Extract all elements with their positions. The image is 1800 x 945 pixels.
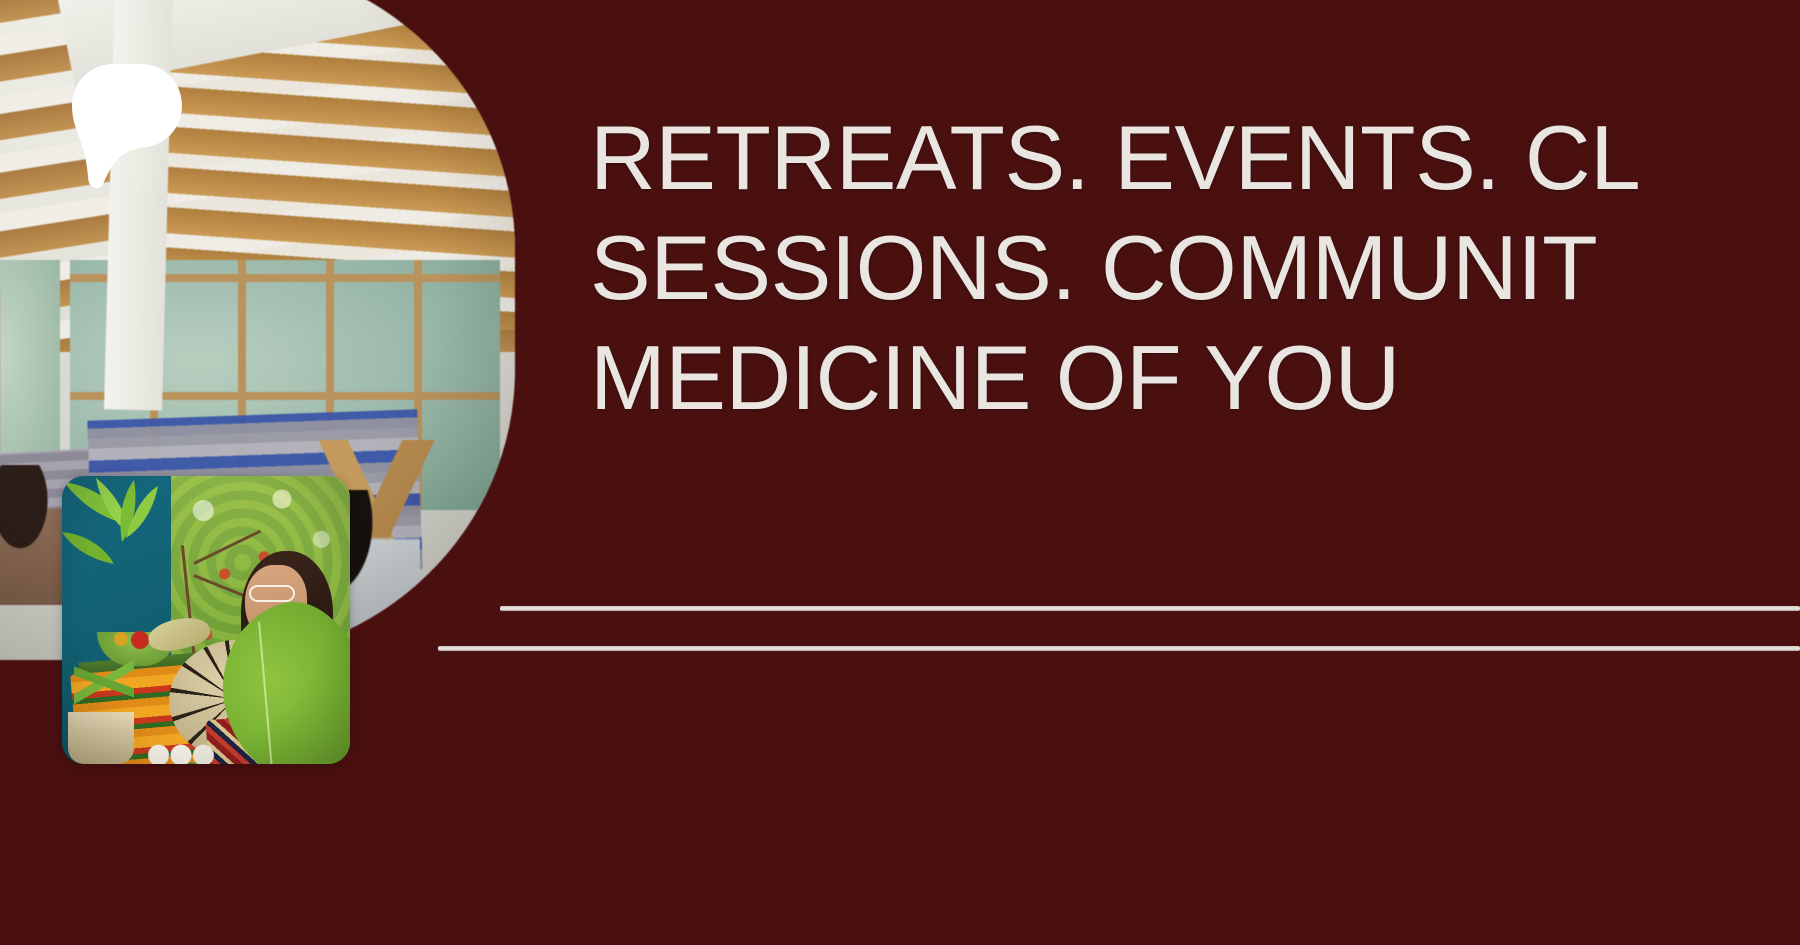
hero-headline-line-2: SESSIONS. COMMUNIT (590, 214, 1640, 324)
creator-avatar[interactable] (62, 476, 350, 764)
creator-page-hero: RETREATS. EVENTS. CL SESSIONS. COMMUNIT … (0, 0, 1800, 945)
patreon-logo-icon[interactable] (70, 62, 184, 190)
hero-headline: RETREATS. EVENTS. CL SESSIONS. COMMUNIT … (590, 104, 1640, 434)
avatar-vignette (62, 476, 350, 764)
hero-headline-line-3: MEDICINE OF YOU (590, 324, 1640, 434)
divider-rule-lower (438, 646, 1800, 651)
hero-headline-line-1: RETREATS. EVENTS. CL (590, 104, 1640, 214)
divider-rule-upper (500, 606, 1800, 611)
